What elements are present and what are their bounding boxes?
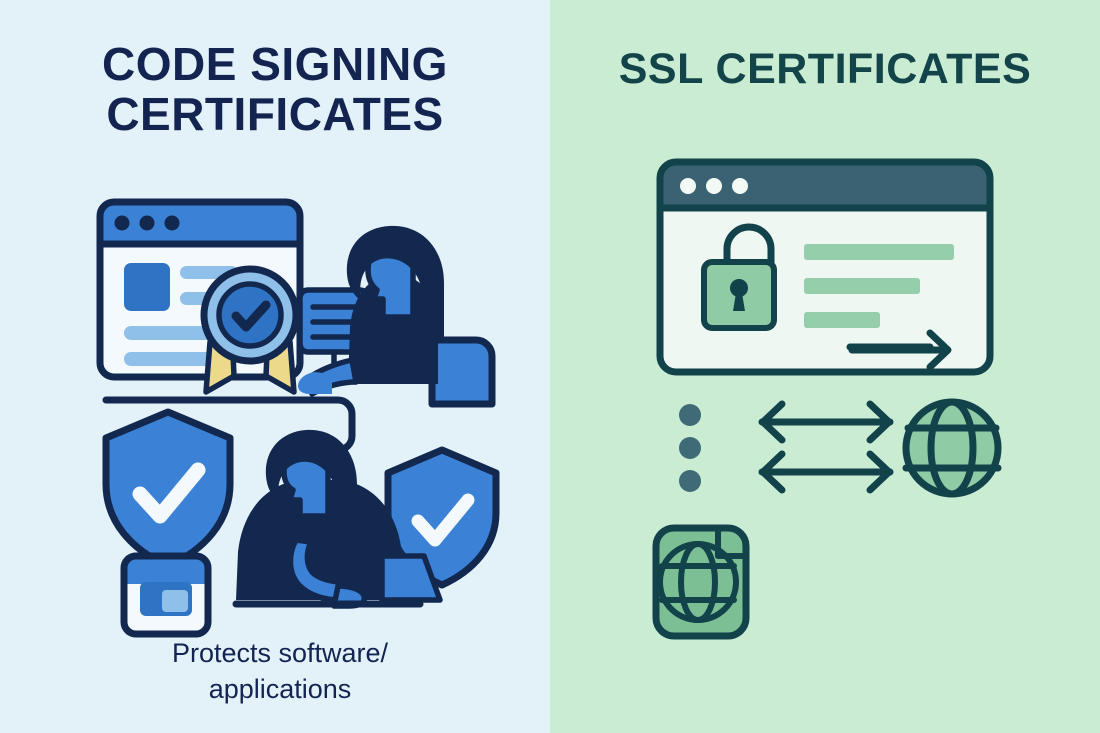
caption-left-line1: Protects software/ [172,638,388,668]
certificate-globe-document-icon [656,528,746,636]
window-dot-icon [165,216,180,231]
window-dot-icon [680,178,696,194]
content-bar [804,312,880,328]
window-dot-icon [706,178,722,194]
ssl-illustration: .tol { stroke:#12424a; stroke-width:7; s… [550,0,1100,733]
content-bar [124,352,212,366]
caption-left-line2: applications [209,674,352,704]
code-signing-illustration: .ol { stroke:#13284f; stroke-width:7; st… [0,0,550,733]
content-bar [804,244,954,260]
dots-vertical-icon [679,404,701,492]
app-window-icon [124,556,208,634]
content-bar [804,278,920,294]
comparison-infographic: CODE SIGNING CERTIFICATES .ol { stroke:#… [0,0,1100,733]
double-arrow-icon [762,404,890,440]
window-dot-icon [140,216,155,231]
shield-check-icon [106,412,230,566]
content-thumbnail [124,263,170,311]
window-dot-icon [115,216,130,231]
window-dot-icon [732,178,748,194]
double-arrow-icon [762,454,890,490]
panel-ssl: SSL CERTIFICATES .tol { stroke:#12424a; … [550,0,1100,733]
panel-code-signing: CODE SIGNING CERTIFICATES .ol { stroke:#… [0,0,550,733]
caption-left: Protects software/ applications [80,636,480,707]
browser-window-icon [660,162,990,372]
globe-icon [906,402,998,494]
